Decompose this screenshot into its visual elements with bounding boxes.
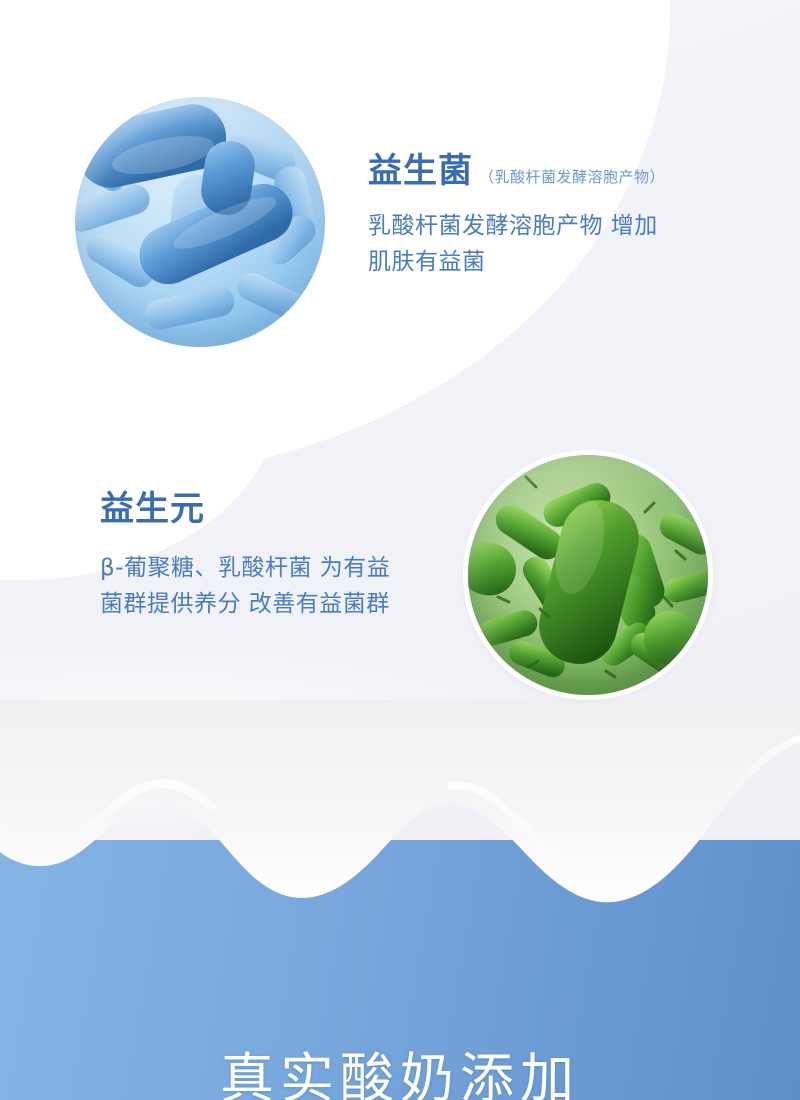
section-probiotic: 益生菌 （乳酸杆菌发酵溶胞产物） 乳酸杆菌发酵溶胞产物 增加 肌肤有益菌 <box>368 152 748 280</box>
probiotic-heading-note: （乳酸杆菌发酵溶胞产物） <box>479 166 665 187</box>
product-infographic-page: 益生菌 （乳酸杆菌发酵溶胞产物） 乳酸杆菌发酵溶胞产物 增加 肌肤有益菌 益生元… <box>0 0 800 1100</box>
prebiotic-body-text: β-葡聚糖、乳酸杆菌 为有益 菌群提供养分 改善有益菌群 <box>100 551 480 622</box>
probiotic-body-text: 乳酸杆菌发酵溶胞产物 增加 肌肤有益菌 <box>368 209 748 280</box>
bottom-banner-headline: 真实酸奶添加 <box>0 1052 800 1100</box>
section-prebiotic: 益生元 β-葡聚糖、乳酸杆菌 为有益 菌群提供养分 改善有益菌群 <box>100 490 480 622</box>
prebiotic-heading: 益生元 <box>100 490 205 529</box>
green-bacteria-photo <box>468 455 708 695</box>
blue-bacteria-photo <box>75 97 325 347</box>
probiotic-heading-row: 益生菌 （乳酸杆菌发酵溶胞产物） <box>368 152 748 191</box>
prebiotic-heading-row: 益生元 <box>100 490 480 529</box>
milk-drip-wave <box>0 700 800 930</box>
probiotic-heading: 益生菌 <box>368 152 473 191</box>
